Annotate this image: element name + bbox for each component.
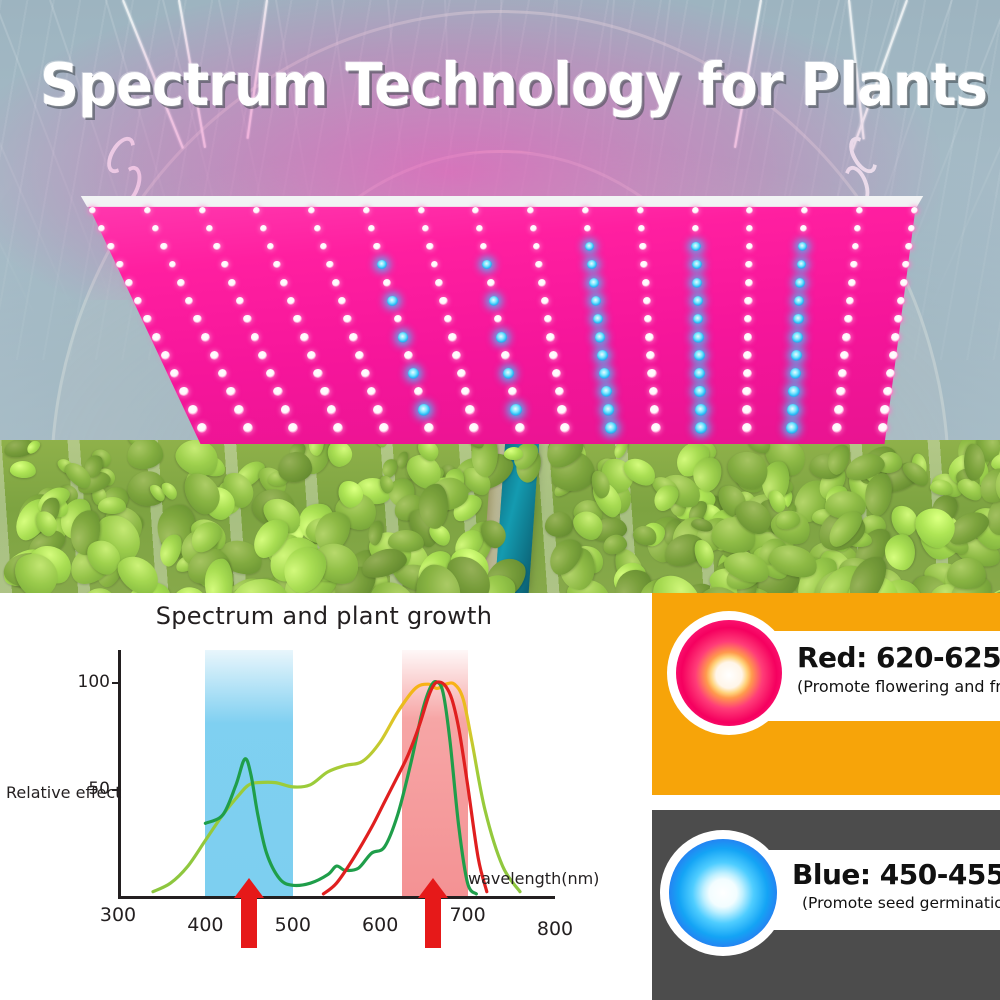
- white-led: [515, 423, 525, 433]
- blue-led: [398, 332, 409, 343]
- y-tick-label: 100: [66, 672, 110, 692]
- blue-led: [693, 332, 704, 343]
- blue-led: [692, 260, 702, 270]
- white-led: [452, 351, 461, 360]
- white-led: [834, 405, 844, 415]
- product-infographic: Spectrum Technology for Plants Growth Sp…: [0, 0, 1000, 1000]
- white-led: [281, 405, 291, 415]
- blue-led: [605, 422, 617, 434]
- blue-led: [482, 260, 492, 270]
- x-axis: [118, 896, 555, 899]
- white-led: [856, 207, 863, 214]
- x-tick-label: 300: [88, 904, 148, 926]
- white-led: [889, 351, 898, 360]
- white-led: [692, 207, 699, 214]
- white-led: [487, 279, 495, 287]
- white-led: [160, 243, 168, 251]
- red-led-glow: [676, 620, 782, 726]
- white-led: [313, 369, 322, 378]
- red-spectrum-card: Red: 620-625nm (Promote flowering and fr…: [652, 593, 1000, 795]
- white-led: [308, 207, 315, 214]
- white-led: [501, 351, 510, 360]
- white-led: [448, 333, 457, 342]
- white-led: [349, 333, 358, 342]
- hero-photo: Spectrum Technology for Plants Growth: [0, 0, 1000, 593]
- white-led: [637, 207, 644, 214]
- white-led: [743, 351, 752, 360]
- white-led: [243, 315, 252, 324]
- white-led: [144, 207, 151, 214]
- white-led: [842, 333, 851, 342]
- white-led: [527, 207, 534, 214]
- blue-led: [787, 404, 799, 416]
- red-card-subtitle: (Promote flowering and fruiting): [797, 677, 1000, 696]
- blue-spectrum-card: Blue: 450-455nm (Promote seed germinatio…: [652, 810, 1000, 1000]
- white-led: [638, 225, 645, 232]
- page-title: Spectrum Technology for Plants Growth: [40, 50, 960, 119]
- white-led: [742, 405, 752, 415]
- white-led: [193, 315, 202, 324]
- blue-led: [793, 314, 804, 325]
- white-led: [886, 369, 895, 378]
- white-led: [116, 261, 124, 269]
- white-led: [143, 315, 152, 324]
- white-led: [152, 225, 159, 232]
- blue-arrow-stem: [241, 898, 257, 948]
- blue-led: [387, 296, 397, 306]
- white-led: [107, 243, 115, 251]
- white-led: [152, 333, 161, 342]
- blue-led-glow: [669, 839, 777, 947]
- white-led: [908, 225, 915, 232]
- x-tick-label: 800: [525, 918, 585, 940]
- white-led: [435, 279, 443, 287]
- white-led: [226, 387, 236, 397]
- white-led: [472, 207, 479, 214]
- white-led: [902, 261, 910, 269]
- white-led: [897, 297, 905, 305]
- white-led: [338, 297, 346, 305]
- white-led: [639, 243, 647, 251]
- white-led: [530, 225, 537, 232]
- white-led: [439, 297, 447, 305]
- blue-led: [693, 296, 703, 306]
- white-led: [801, 207, 808, 214]
- white-led: [744, 333, 753, 342]
- white-led: [188, 405, 198, 415]
- white-led: [327, 405, 337, 415]
- white-led: [557, 405, 567, 415]
- white-led: [745, 279, 753, 287]
- white-led: [905, 243, 913, 251]
- white-led: [206, 225, 213, 232]
- white-led: [642, 279, 650, 287]
- white-led: [426, 243, 434, 251]
- blue-card-subtitle: (Promote seed germination): [802, 894, 1000, 912]
- white-led: [742, 423, 752, 433]
- white-led: [266, 369, 275, 378]
- white-led: [582, 207, 589, 214]
- white-led: [584, 225, 591, 232]
- blue-led: [595, 332, 606, 343]
- white-led: [878, 423, 888, 433]
- hydroponic-plant-bed: [0, 440, 1000, 593]
- y-tick: [112, 682, 120, 684]
- white-led: [221, 261, 229, 269]
- white-led: [326, 261, 334, 269]
- blue-led: [496, 332, 507, 343]
- led-board: [52, 196, 952, 444]
- y-axis: [118, 650, 121, 898]
- white-led: [260, 225, 267, 232]
- white-led: [243, 423, 253, 433]
- white-led: [880, 405, 890, 415]
- white-led: [844, 315, 853, 324]
- white-led: [800, 225, 807, 232]
- white-led: [744, 297, 752, 305]
- white-led: [854, 225, 861, 232]
- white-led: [647, 369, 656, 378]
- blue-led: [587, 260, 597, 270]
- white-led: [900, 279, 908, 287]
- white-led: [179, 387, 189, 397]
- blue-led: [510, 404, 522, 416]
- white-led: [251, 333, 260, 342]
- white-led: [273, 387, 283, 397]
- blue-led: [692, 278, 702, 288]
- blue-led: [791, 350, 802, 361]
- white-led: [422, 225, 429, 232]
- white-led: [894, 315, 903, 324]
- white-led: [373, 405, 383, 415]
- white-led: [368, 225, 375, 232]
- blue-led: [694, 350, 705, 361]
- white-led: [287, 297, 295, 305]
- white-led: [201, 333, 210, 342]
- white-led: [418, 207, 425, 214]
- white-led: [404, 351, 413, 360]
- white-led: [476, 225, 483, 232]
- white-led: [911, 207, 918, 214]
- white-led: [645, 333, 654, 342]
- blue-led-icon: [660, 830, 786, 956]
- white-led: [373, 243, 381, 251]
- spectrum-chart-panel: Spectrum and plant growth 50100 30040050…: [0, 593, 648, 1000]
- blue-card-title: Blue: 450-455nm: [792, 858, 1000, 891]
- white-led: [746, 243, 754, 251]
- white-led: [549, 351, 558, 360]
- white-led: [307, 351, 316, 360]
- x-tick-label: 400: [175, 914, 235, 936]
- white-led: [125, 279, 133, 287]
- red-arrow-stem: [425, 898, 441, 948]
- chart-plot-area: 50100 300400500600700800 Relative effect…: [0, 593, 648, 923]
- white-led: [293, 315, 302, 324]
- white-led: [883, 387, 893, 397]
- blue-led: [418, 404, 430, 416]
- white-led: [891, 333, 900, 342]
- x-tick-label: 700: [438, 904, 498, 926]
- white-led: [89, 207, 96, 214]
- white-led: [646, 351, 655, 360]
- white-led: [213, 243, 221, 251]
- blue-led: [599, 368, 610, 379]
- white-led: [161, 351, 170, 360]
- x-axis-label: wavelength(nm): [468, 869, 599, 888]
- white-led: [236, 297, 244, 305]
- y-axis-label: Relative effect: [6, 783, 121, 802]
- white-led: [314, 225, 321, 232]
- leaf: [946, 557, 986, 589]
- x-tick-label: 500: [263, 914, 323, 936]
- white-led: [379, 423, 389, 433]
- blue-led: [790, 368, 801, 379]
- white-led: [457, 369, 466, 378]
- white-led: [836, 387, 846, 397]
- white-led: [850, 261, 858, 269]
- white-led: [363, 207, 370, 214]
- blue-led: [792, 332, 803, 343]
- white-led: [343, 315, 352, 324]
- red-arrow: [418, 878, 448, 898]
- blue-led: [691, 242, 701, 252]
- led-grow-light-panel: [52, 196, 952, 444]
- white-led: [332, 279, 340, 287]
- white-led: [746, 207, 753, 214]
- blue-led: [603, 404, 615, 416]
- white-led: [465, 405, 475, 415]
- blue-led: [591, 296, 601, 306]
- white-led: [98, 225, 105, 232]
- white-led: [848, 279, 856, 287]
- white-led: [288, 423, 298, 433]
- blue-led: [695, 404, 707, 416]
- red-card-title: Red: 620-625nm: [797, 641, 1000, 674]
- blue-led: [786, 422, 798, 434]
- white-led: [538, 279, 546, 287]
- white-led: [355, 351, 364, 360]
- white-led: [650, 405, 660, 415]
- white-led: [234, 405, 244, 415]
- white-led: [643, 297, 651, 305]
- blue-arrow: [234, 878, 264, 898]
- white-led: [177, 279, 185, 287]
- blue-led: [589, 278, 599, 288]
- white-led: [210, 351, 219, 360]
- x-tick-label: 600: [350, 914, 410, 936]
- blue-led: [597, 350, 608, 361]
- white-led: [199, 207, 206, 214]
- red-led-icon: [667, 611, 791, 735]
- white-led: [480, 243, 488, 251]
- white-led: [546, 333, 555, 342]
- white-led: [746, 225, 753, 232]
- white-led: [651, 423, 661, 433]
- white-led: [692, 225, 699, 232]
- white-led: [840, 351, 849, 360]
- white-led: [253, 207, 260, 214]
- white-led: [383, 279, 391, 287]
- white-led: [258, 351, 267, 360]
- white-led: [320, 387, 330, 397]
- white-led: [280, 279, 288, 287]
- white-led: [300, 333, 309, 342]
